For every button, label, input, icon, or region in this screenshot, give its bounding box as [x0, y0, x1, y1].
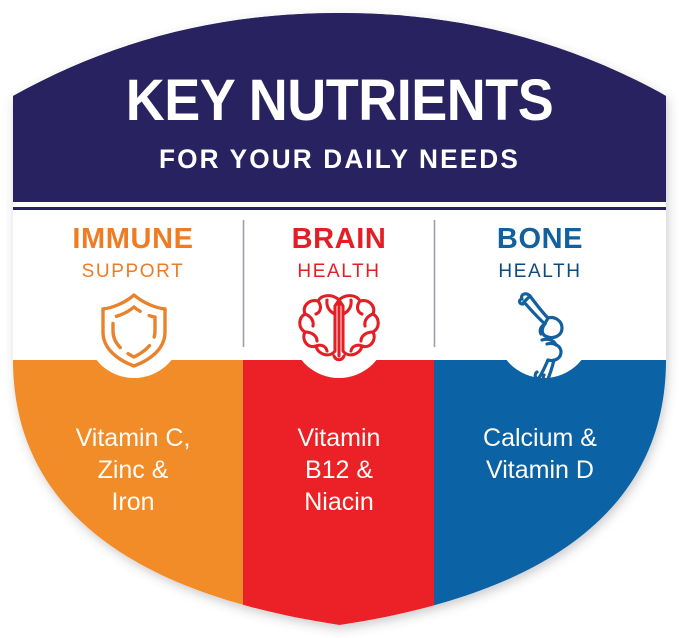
- banner-underline: [0, 202, 679, 207]
- banner-fill: [0, 0, 679, 202]
- shield-infographic: [0, 0, 679, 638]
- band-brain: [243, 360, 434, 638]
- nutrient-color-bands: [0, 360, 679, 638]
- band-bone: [434, 360, 679, 638]
- band-immune: [0, 360, 243, 638]
